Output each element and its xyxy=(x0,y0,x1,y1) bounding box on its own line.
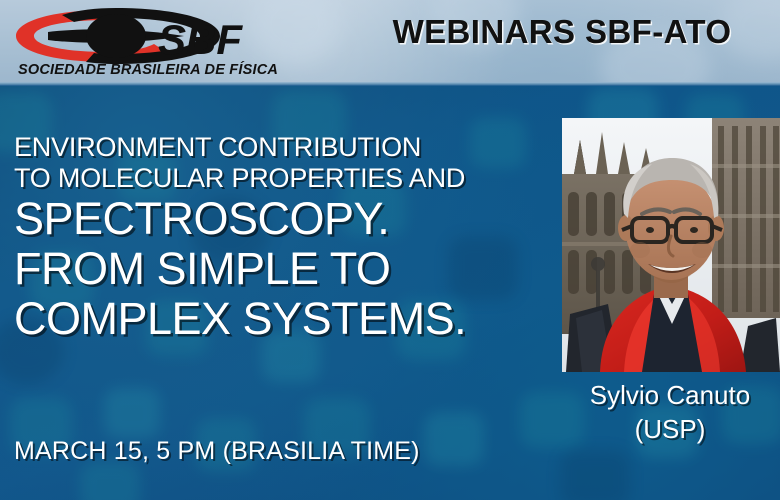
logo-subtitle: SOCIEDADE BRASILEIRA DE FÍSICA xyxy=(18,62,278,78)
speaker-photo xyxy=(562,118,780,372)
poster-header: SBF SOCIEDADE BRASILEIRA DE FÍSICA WEBIN… xyxy=(0,0,780,82)
sbf-atom-logo-icon: SBF xyxy=(8,6,278,66)
title-line-2: TO MOLECULAR PROPERTIES AND xyxy=(14,163,544,194)
speaker-affiliation: (USP) xyxy=(560,412,780,446)
title-line-4: FROM SIMPLE TO xyxy=(14,244,544,294)
title-line-1: ENVIRONMENT CONTRIBUTION xyxy=(14,132,544,163)
speaker-caption: Sylvio Canuto (USP) xyxy=(560,378,780,446)
svg-text:SBF: SBF xyxy=(158,16,243,63)
webinars-title: WEBINARS SBF-ATO xyxy=(352,13,772,51)
sbf-logo: SBF SOCIEDADE BRASILEIRA DE FÍSICA xyxy=(8,6,278,78)
event-datetime: MARCH 15, 5 PM (BRASILIA TIME) xyxy=(14,437,420,466)
speaker-name: Sylvio Canuto xyxy=(560,378,780,412)
title-line-5: COMPLEX SYSTEMS. xyxy=(14,294,544,344)
talk-title: ENVIRONMENT CONTRIBUTION TO MOLECULAR PR… xyxy=(14,132,544,344)
webinar-poster: SBF SOCIEDADE BRASILEIRA DE FÍSICA WEBIN… xyxy=(0,0,780,500)
title-line-3: SPECTROSCOPY. xyxy=(14,194,544,244)
header-divider xyxy=(0,82,780,86)
